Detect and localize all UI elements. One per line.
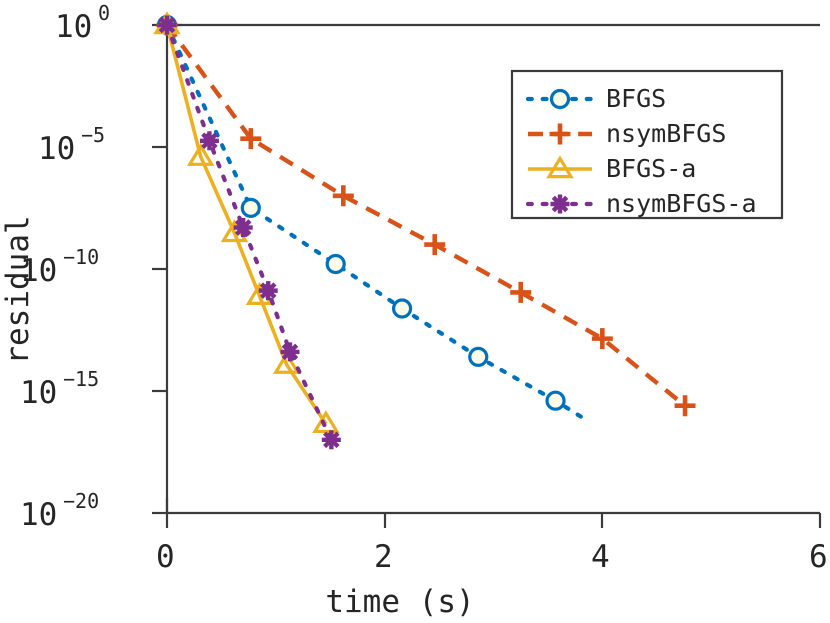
y-tick-label-1e0-base: 10 xyxy=(55,9,92,45)
data-marker-circle xyxy=(470,348,487,365)
x-tick-labels: 0 2 4 6 xyxy=(156,539,828,575)
y-tick-label-1e-15-base: 10 xyxy=(20,375,57,411)
data-marker-asterisk xyxy=(200,131,219,150)
plot-canvas: 10 0 10 −5 10 −10 10 −15 10 −20 0 2 4 6 … xyxy=(0,0,830,623)
data-marker-asterisk xyxy=(322,430,341,449)
data-marker-circle xyxy=(394,300,411,317)
data-marker-asterisk xyxy=(259,281,278,300)
data-marker-asterisk xyxy=(280,342,299,361)
y-tick-label-1e-15-exp: −15 xyxy=(63,367,99,391)
legend-label-bfgs-a: BFGS-a xyxy=(606,154,696,183)
data-marker-plus xyxy=(510,282,531,303)
legend-label-bfgs: BFGS xyxy=(606,84,666,113)
y-tick-label-1e0-exp: 0 xyxy=(98,1,110,25)
legend[interactable]: BFGSnsymBFGSBFGS-ansymBFGS-a xyxy=(512,71,782,218)
data-marker-circle xyxy=(327,256,344,273)
data-marker-circle xyxy=(547,392,564,409)
x-tick-label-2: 2 xyxy=(374,539,393,575)
data-marker-asterisk xyxy=(551,195,570,214)
x-axis-title: time (s) xyxy=(325,584,474,620)
data-marker-asterisk xyxy=(234,218,253,237)
chart-figure: 10 0 10 −5 10 −10 10 −15 10 −20 0 2 4 6 … xyxy=(0,0,830,623)
y-tick-label-1e-20-base: 10 xyxy=(20,497,57,533)
x-tick-label-0: 0 xyxy=(156,539,175,575)
y-tick-label-1e-10-exp: −10 xyxy=(63,245,99,269)
legend-label-nsymbfgs: nsymBFGS xyxy=(606,119,726,148)
y-tick-label-1e-20-exp: −20 xyxy=(63,489,99,513)
x-tick-label-6: 6 xyxy=(809,539,828,575)
y-tick-label-1e-5-exp: −5 xyxy=(81,123,105,147)
data-marker-circle xyxy=(242,199,259,216)
data-marker-plus xyxy=(424,234,445,255)
y-tick-label-1e-5-base: 10 xyxy=(38,131,75,167)
legend-label-nsymbfgs-a: nsymBFGS-a xyxy=(606,189,757,218)
data-marker-circle xyxy=(552,91,569,108)
data-marker-plus xyxy=(333,185,354,206)
data-marker-asterisk xyxy=(158,16,177,35)
x-tick-label-4: 4 xyxy=(591,539,610,575)
y-axis-title: residual xyxy=(0,215,36,364)
series-nsymbfgs-a xyxy=(158,16,341,450)
